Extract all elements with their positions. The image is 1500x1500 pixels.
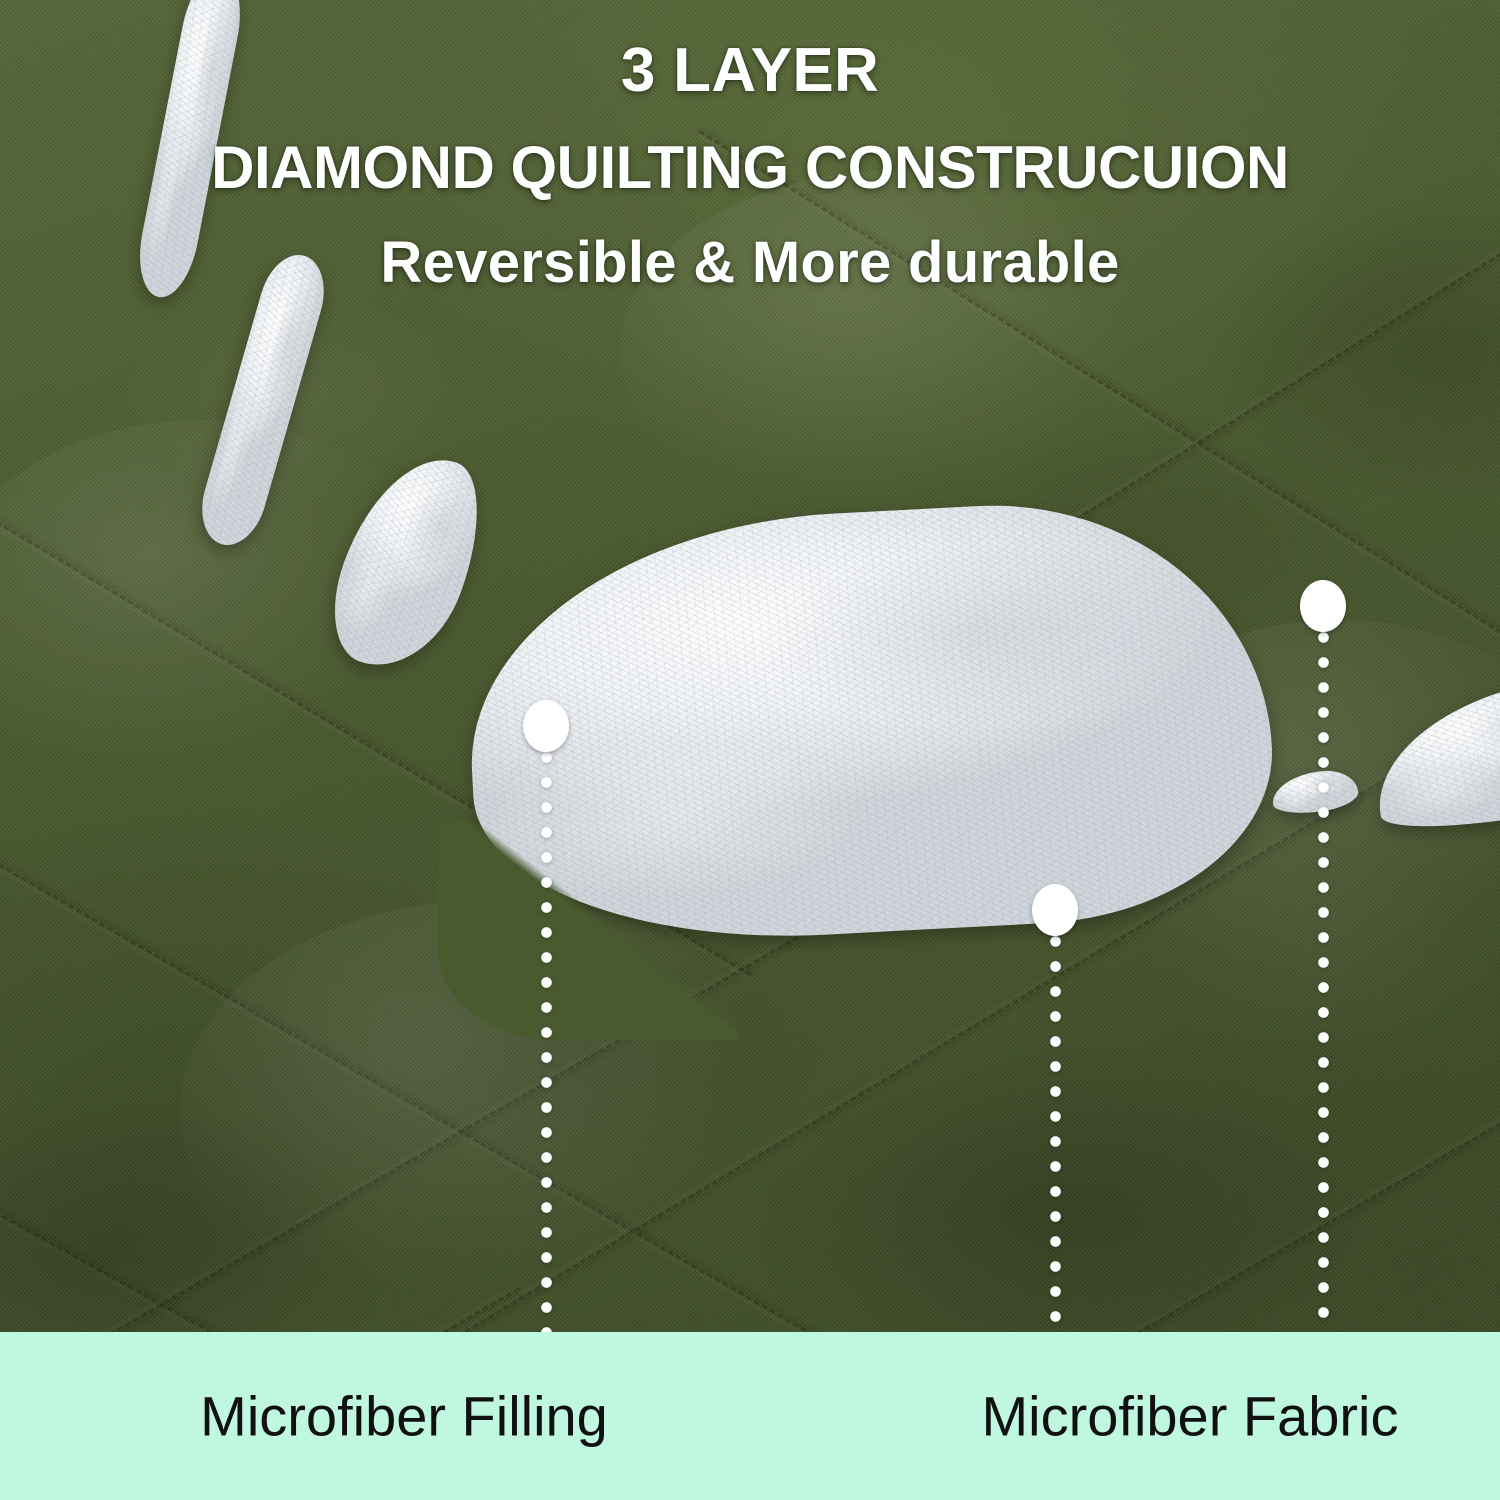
quilt-seam	[698, 130, 1500, 662]
quilt-seam	[0, 877, 900, 1332]
legend-label-microfiber-fabric: Microfiber Fabric	[982, 1384, 1399, 1449]
quilt-shadow	[1180, 180, 1500, 520]
quilt-seam	[0, 330, 751, 976]
quilt-puff	[1080, 620, 1500, 1000]
callout-dot-fabric-right[interactable]	[1300, 580, 1346, 632]
quilt-seam	[448, 247, 1500, 912]
quilt-seam	[0, 760, 1032, 1332]
quilt-seam	[0, 1287, 520, 1332]
leader-line-filling	[541, 752, 552, 1332]
leader-line-fabric-right	[1318, 632, 1329, 1332]
quilt-seam	[0, 1180, 1077, 1332]
quilt-shadow	[0, 1080, 420, 1332]
batting-right-wedge	[1363, 668, 1500, 841]
batting-edge-mask	[438, 820, 738, 1040]
quilt-puff	[0, 420, 460, 800]
quilt-puff	[180, 900, 800, 1320]
legend-bar: Microfiber Filling Microfiber Fabric	[0, 1332, 1500, 1500]
fabric-weave-texture	[0, 0, 1500, 1332]
legend-label-microfiber-filling: Microfiber Filling	[200, 1384, 608, 1449]
leader-line-fabric	[1050, 936, 1061, 1332]
batting-leaf	[314, 438, 502, 686]
infographic-canvas: 3 LAYER DIAMOND QUILTING CONSTRUCUION Re…	[0, 0, 1500, 1500]
batting-strip-mid	[192, 247, 334, 552]
batting-sliver	[1270, 768, 1360, 817]
product-photo	[0, 0, 1500, 1332]
callout-dot-filling[interactable]	[523, 700, 569, 752]
quilt-puff	[620, 170, 1180, 530]
fabric-shading	[0, 0, 1500, 1332]
quilt-seam	[729, 1117, 1500, 1332]
batting-strip-upper	[131, 0, 249, 302]
callout-dot-fabric[interactable]	[1032, 884, 1078, 936]
quilt-seam	[233, 697, 1500, 1332]
batting-main-blob	[460, 491, 1281, 952]
